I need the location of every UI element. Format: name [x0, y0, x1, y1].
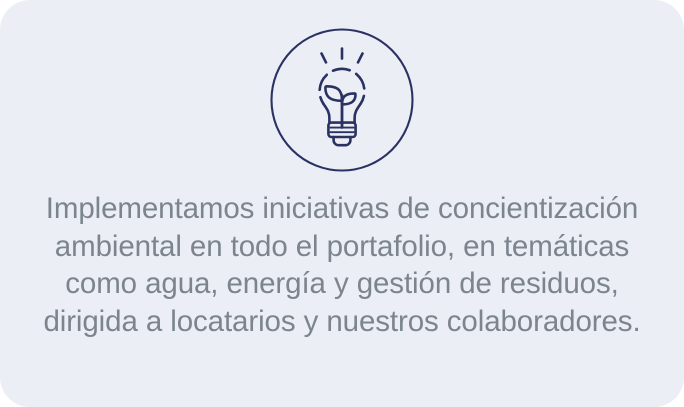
info-card: Implementamos iniciativas de concientiza…: [0, 0, 684, 407]
lightbulb-leaf-icon-badge: [270, 28, 414, 172]
lightbulb-leaf-icon: [270, 28, 414, 172]
card-body-text: Implementamos iniciativas de concientiza…: [0, 190, 684, 340]
